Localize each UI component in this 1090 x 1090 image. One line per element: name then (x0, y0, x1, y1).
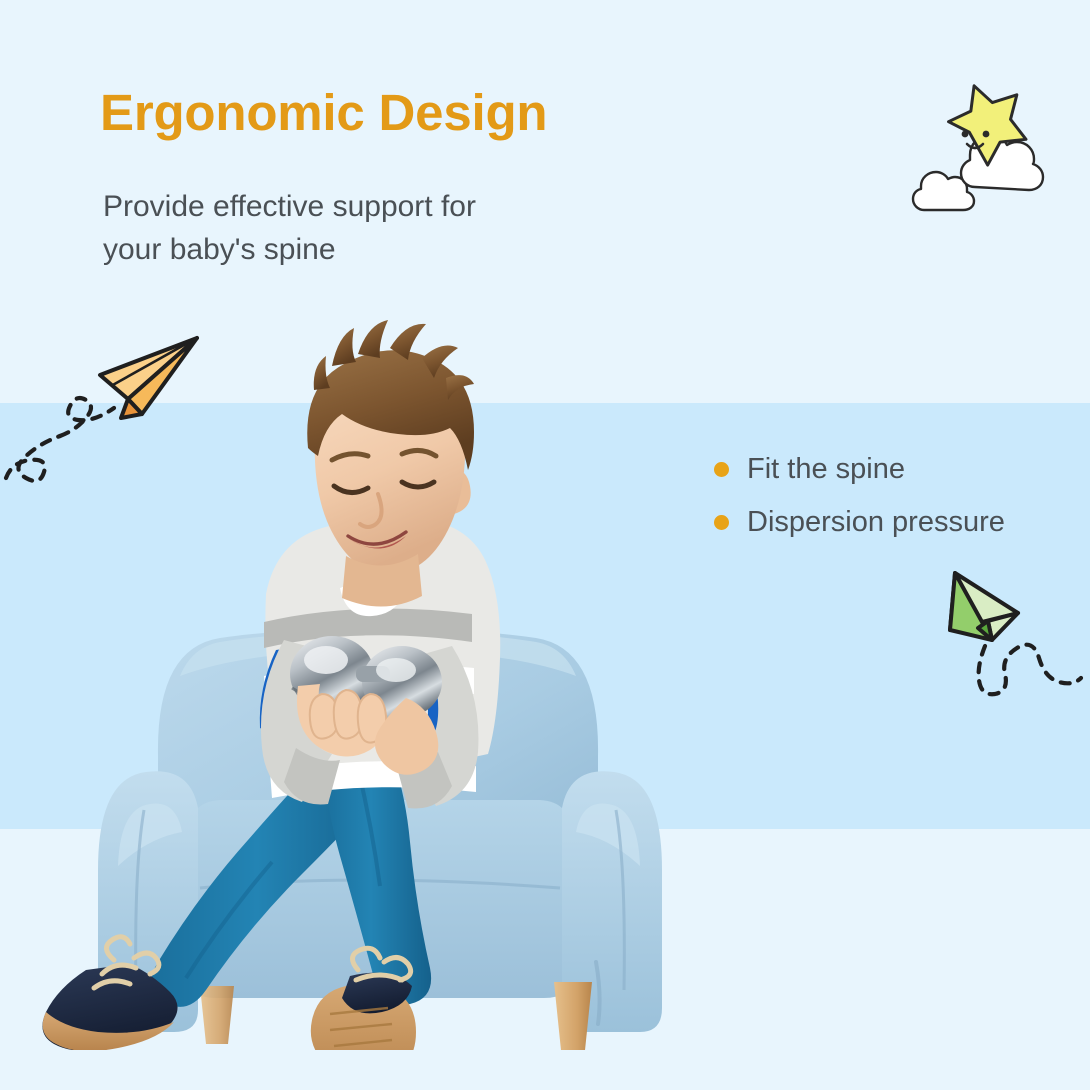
feature-label: Fit the spine (747, 455, 905, 484)
star-cloud-icon (862, 72, 1090, 237)
sofa-leg-right (554, 982, 592, 1050)
list-item: Fit the spine (714, 450, 1084, 488)
promo-banner: Ergonomic Design Provide effective suppo… (0, 0, 1090, 1090)
page-title: Ergonomic Design (100, 86, 547, 140)
sofa-leg-left (200, 986, 234, 1044)
product-photo-boy-on-sofa (40, 270, 720, 1050)
feature-label: Dispersion pressure (747, 508, 1005, 537)
list-item: Dispersion pressure (714, 503, 1084, 541)
page-subtitle: Provide effective support for your baby'… (103, 186, 476, 271)
feature-list: Fit the spine Dispersion pressure (714, 450, 1084, 556)
paper-plane-green-icon (930, 558, 1090, 713)
